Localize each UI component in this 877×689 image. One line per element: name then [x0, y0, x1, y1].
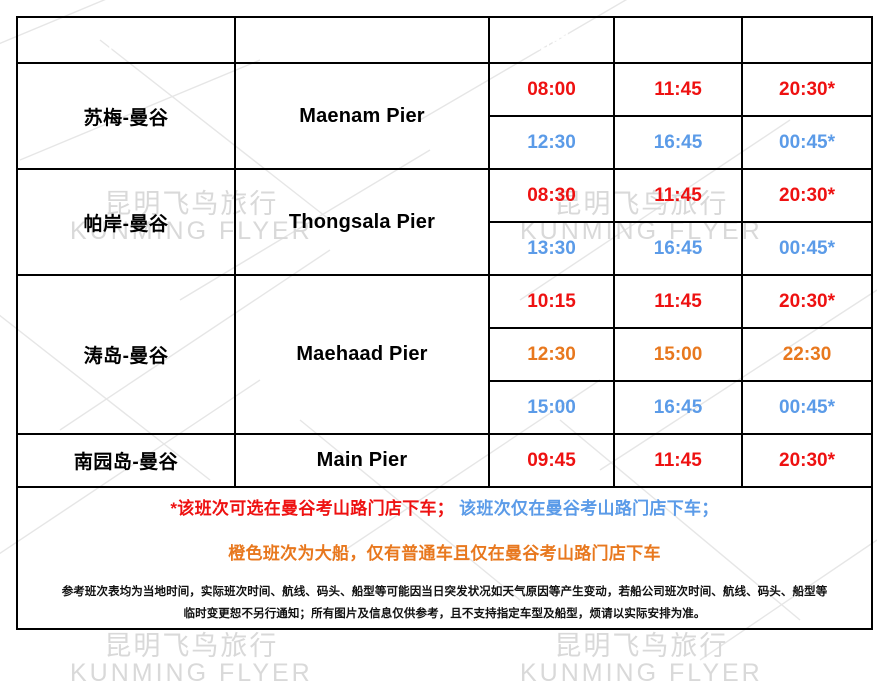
bus-departure-cell: 11:45 — [614, 275, 742, 328]
bus-departure-cell: 11:45 — [614, 434, 742, 487]
table-header: 行程 登船地点 发船时间 发车时间 抵达时间 — [17, 17, 872, 63]
watermark-en: KUNMING FLYER — [70, 660, 313, 686]
fine-print-line-1: 参考班次表均为当地时间，实际班次时间、航线、码头、船型等可能因当日突发状况如天气… — [18, 582, 871, 604]
arrival-cell: 00:45* — [742, 222, 872, 275]
table-footer: *该班次可选在曼谷考山路门店下车； 该班次仅在曼谷考山路门店下车； 橙色班次为大… — [17, 487, 872, 629]
column-header-boat-departure: 发船时间 — [489, 17, 614, 63]
arrival-cell: 22:30 — [742, 328, 872, 381]
pier-cell: Maehaad Pier — [235, 275, 489, 434]
header-row: 行程 登船地点 发船时间 发车时间 抵达时间 — [17, 17, 872, 63]
bus-departure-cell: 11:45 — [614, 63, 742, 116]
fine-print: 参考班次表均为当地时间，实际班次时间、航线、码头、船型等可能因当日突发状况如天气… — [18, 582, 871, 626]
arrival-cell: 00:45* — [742, 381, 872, 434]
arrival-cell: 00:45* — [742, 116, 872, 169]
note-blue-text: 该班次仅在曼谷考山路门店下车； — [459, 499, 719, 518]
watermark-cn: 昆明飞鸟旅行 — [70, 632, 313, 660]
table-row: 南园岛-曼谷Main Pier09:4511:4520:30* — [17, 434, 872, 487]
boat-departure-cell: 15:00 — [489, 381, 614, 434]
watermark-cn: 昆明飞鸟旅行 — [520, 632, 763, 660]
column-header-bus-departure: 发车时间 — [614, 17, 742, 63]
watermark-en: KUNMING FLYER — [520, 660, 763, 686]
boat-departure-cell: 08:00 — [489, 63, 614, 116]
bus-departure-cell: 16:45 — [614, 222, 742, 275]
pier-cell: Main Pier — [235, 434, 489, 487]
arrival-cell: 20:30* — [742, 63, 872, 116]
arrival-cell: 20:30* — [742, 169, 872, 222]
boat-departure-cell: 09:45 — [489, 434, 614, 487]
note-line-1: *该班次可选在曼谷考山路门店下车； 该班次仅在曼谷考山路门店下车； — [18, 494, 871, 519]
boat-departure-cell: 08:30 — [489, 169, 614, 222]
bus-departure-cell: 16:45 — [614, 116, 742, 169]
bus-departure-cell: 16:45 — [614, 381, 742, 434]
bus-departure-cell: 11:45 — [614, 169, 742, 222]
boat-departure-cell: 13:30 — [489, 222, 614, 275]
note-line-2-orange: 橙色班次为大船，仅有普通车且仅在曼谷考山路门店下车 — [18, 539, 871, 564]
note-red-text: *该班次可选在曼谷考山路门店下车； — [170, 499, 454, 518]
bus-departure-cell: 15:00 — [614, 328, 742, 381]
boat-departure-cell: 10:15 — [489, 275, 614, 328]
arrival-cell: 20:30* — [742, 275, 872, 328]
column-header-pier: 登船地点 — [235, 17, 489, 63]
notes-row: *该班次可选在曼谷考山路门店下车； 该班次仅在曼谷考山路门店下车； 橙色班次为大… — [17, 487, 872, 629]
column-header-arrival: 抵达时间 — [742, 17, 872, 63]
route-cell: 南园岛-曼谷 — [17, 434, 235, 487]
notes-cell: *该班次可选在曼谷考山路门店下车； 该班次仅在曼谷考山路门店下车； 橙色班次为大… — [17, 487, 872, 629]
boat-departure-cell: 12:30 — [489, 116, 614, 169]
column-header-route: 行程 — [17, 17, 235, 63]
route-cell: 涛岛-曼谷 — [17, 275, 235, 434]
table-body: 苏梅-曼谷Maenam Pier08:0011:4520:30*12:3016:… — [17, 63, 872, 487]
fine-print-line-2: 临时变更恕不另行通知；所有图片及信息仅供参考，且不支持指定车型及船型，烦请以实际… — [18, 604, 871, 626]
boat-departure-cell: 12:30 — [489, 328, 614, 381]
arrival-cell: 20:30* — [742, 434, 872, 487]
table-row: 涛岛-曼谷Maehaad Pier10:1511:4520:30* — [17, 275, 872, 328]
table-row: 苏梅-曼谷Maenam Pier08:0011:4520:30* — [17, 63, 872, 116]
route-cell: 苏梅-曼谷 — [17, 63, 235, 169]
ferry-bus-timetable: 行程 登船地点 发船时间 发车时间 抵达时间 苏梅-曼谷Maenam Pier0… — [16, 16, 873, 630]
route-cell: 帕岸-曼谷 — [17, 169, 235, 275]
table-row: 帕岸-曼谷Thongsala Pier08:3011:4520:30* — [17, 169, 872, 222]
pier-cell: Maenam Pier — [235, 63, 489, 169]
pier-cell: Thongsala Pier — [235, 169, 489, 275]
